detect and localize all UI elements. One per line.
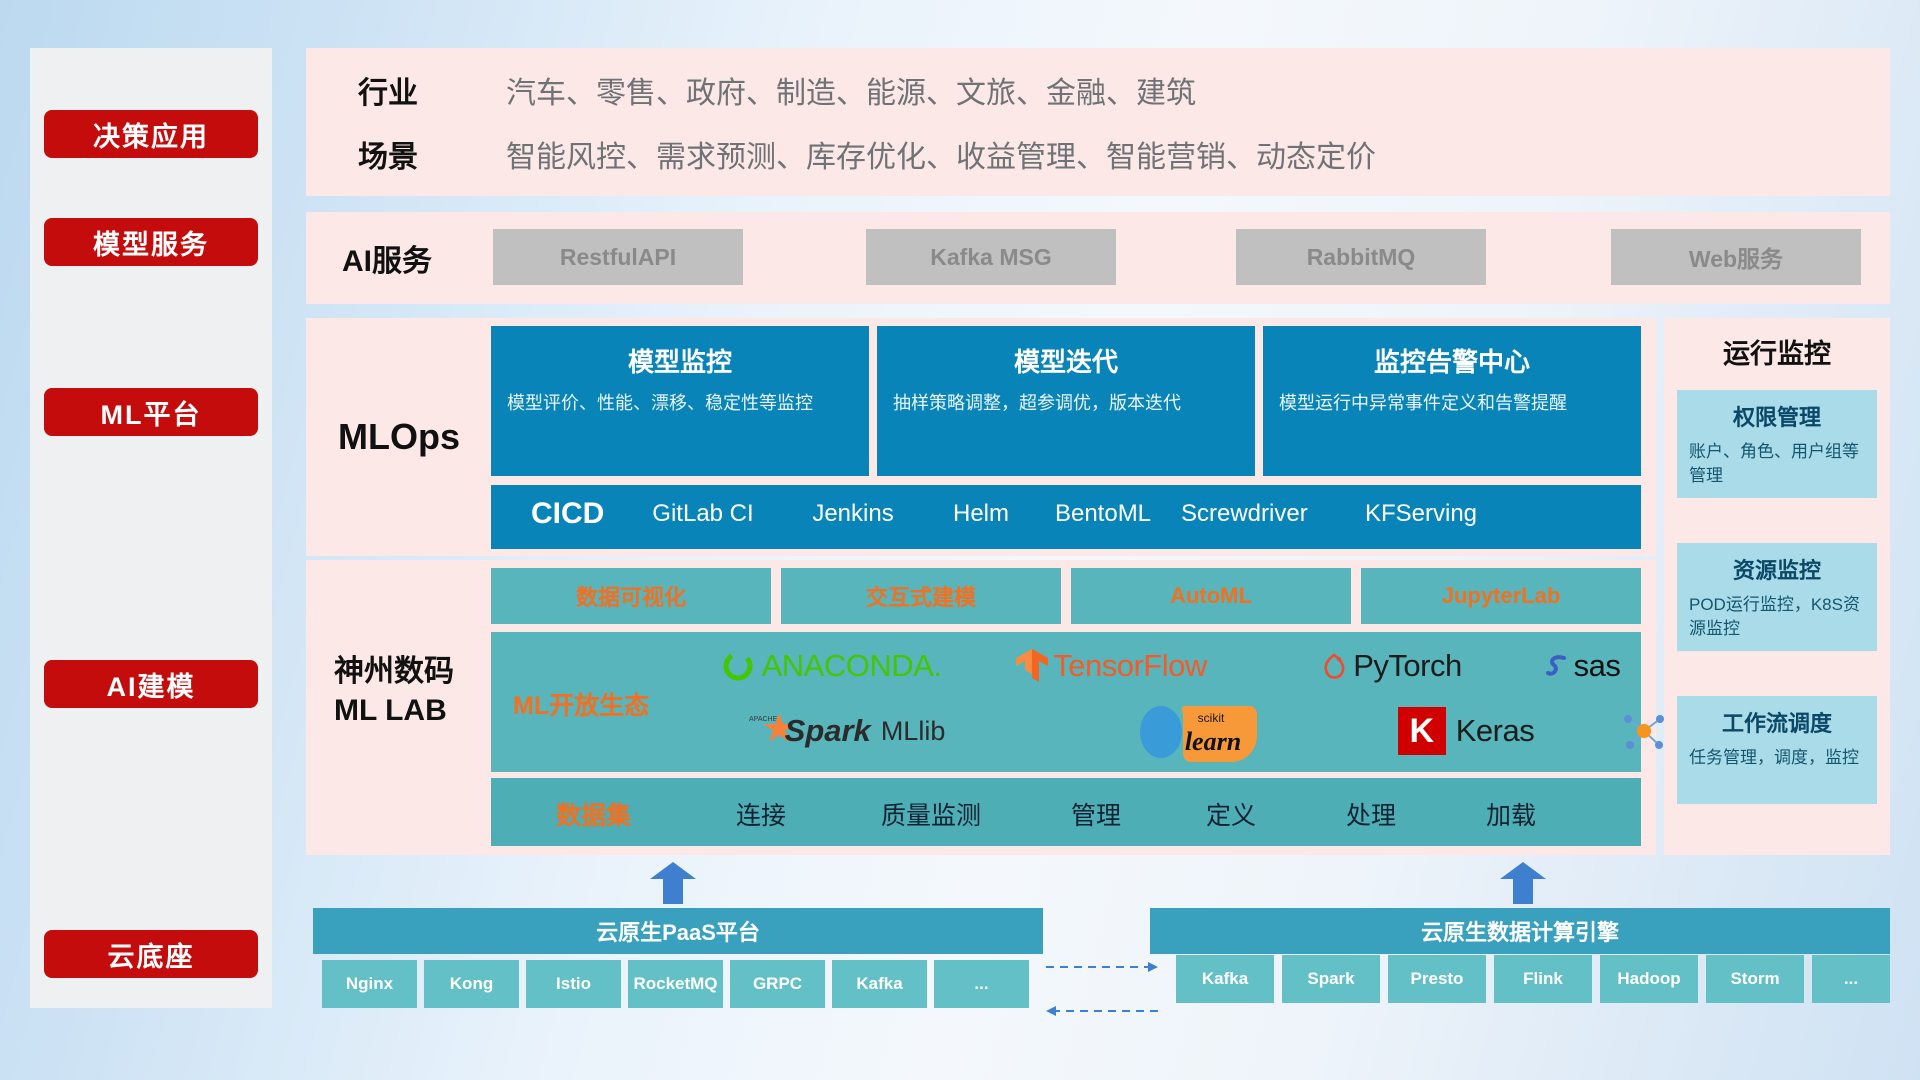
dataset-item-load[interactable]: 加载 bbox=[1486, 796, 1536, 832]
layer-chip-modelserv[interactable]: 模型服务 bbox=[44, 218, 258, 266]
card-title: 模型迭代 bbox=[877, 342, 1255, 379]
card-desc: 任务管理，调度，监控 bbox=[1689, 746, 1865, 770]
logo-sas: sas bbox=[1511, 636, 1651, 696]
logo-pytorch-text: PyTorch bbox=[1353, 648, 1461, 684]
logo-keras: K Keras bbox=[1336, 698, 1596, 764]
logo-mllib-text: MLlib bbox=[881, 716, 946, 747]
card-title: 资源监控 bbox=[1677, 553, 1877, 585]
apps-row-value-industry: 汽车、零售、政府、制造、能源、文旅、金融、建筑 bbox=[506, 62, 1196, 118]
card-desc: 模型评价、性能、漂移、稳定性等监控 bbox=[507, 391, 853, 415]
chip-nginx[interactable]: Nginx bbox=[322, 960, 417, 1008]
arrow-up-paas bbox=[650, 862, 696, 904]
ml-lab-label: 神州数码 ML LAB bbox=[334, 652, 454, 730]
dataset-item-connect[interactable]: 连接 bbox=[736, 796, 786, 832]
chip-kafka-left[interactable]: Kafka bbox=[832, 960, 927, 1008]
logo-spark-text: Spark bbox=[785, 713, 871, 749]
dashed-connectors bbox=[1040, 955, 1170, 1025]
layer-chip-decision[interactable]: 决策应用 bbox=[44, 110, 258, 158]
logo-pytorch: PyTorch bbox=[1266, 636, 1516, 696]
mllab-tab-automl[interactable]: AutoML bbox=[1071, 568, 1351, 624]
ai-service-band: AI服务 RestfulAPI Kafka MSG RabbitMQ Web服务 bbox=[306, 212, 1890, 304]
mlops-card-model-iteration[interactable]: 模型迭代 抽样策略调整，超参调优，版本迭代 bbox=[877, 326, 1255, 476]
ai-service-item-restfulapi[interactable]: RestfulAPI bbox=[493, 229, 743, 285]
apps-row-label-scenario: 场景 bbox=[358, 126, 418, 182]
card-desc: 账户、角色、用户组等管理 bbox=[1689, 440, 1865, 488]
cicd-label: CICD bbox=[531, 497, 604, 531]
apps-row-value-scenario: 智能风控、需求预测、库存优化、收益管理、智能营销、动态定价 bbox=[506, 126, 1376, 182]
ml-lab-band: 神州数码 ML LAB 数据可视化 交互式建模 AutoML JupyterLa… bbox=[306, 560, 1656, 855]
chip-grpc[interactable]: GRPC bbox=[730, 960, 825, 1008]
cicd-strip: CICD GitLab CI Jenkins Helm BentoML Scre… bbox=[491, 485, 1641, 549]
dataset-item-process[interactable]: 处理 bbox=[1346, 796, 1396, 832]
svg-text:scikit: scikit bbox=[1198, 711, 1225, 725]
monitoring-card-workflow[interactable]: 工作流调度 任务管理，调度，监控 bbox=[1677, 696, 1877, 804]
monitoring-card-resources[interactable]: 资源监控 POD运行监控，K8S资源监控 bbox=[1677, 543, 1877, 651]
anaconda-icon bbox=[721, 649, 755, 683]
chip-more-left[interactable]: ... bbox=[934, 960, 1029, 1008]
logo-anaconda: ANACONDA. bbox=[701, 636, 961, 696]
mlops-label: MLOps bbox=[338, 318, 460, 556]
ecosystem-label: ML开放生态 bbox=[513, 686, 649, 722]
card-title: 模型监控 bbox=[491, 342, 869, 379]
cicd-item-bentoml[interactable]: BentoML bbox=[1043, 499, 1163, 529]
ai-service-item-webservice[interactable]: Web服务 bbox=[1611, 229, 1861, 285]
ai-service-item-kafka[interactable]: Kafka MSG bbox=[866, 229, 1116, 285]
logo-tensorflow-text: TensorFlow bbox=[1053, 648, 1207, 684]
cicd-item-screwdriver[interactable]: Screwdriver bbox=[1181, 499, 1301, 529]
layer-chip-mlplatform[interactable]: ML平台 bbox=[44, 388, 258, 436]
mllab-tab-visualization[interactable]: 数据可视化 bbox=[491, 568, 771, 624]
monitoring-column: 运行监控 权限管理 账户、角色、用户组等管理 资源监控 POD运行监控，K8S资… bbox=[1664, 318, 1890, 855]
mlops-card-alert-center[interactable]: 监控告警中心 模型运行中异常事件定义和告警提醒 bbox=[1263, 326, 1641, 476]
logo-keras-text: Keras bbox=[1456, 713, 1534, 749]
pytorch-icon bbox=[1320, 649, 1348, 683]
layer-chip-cloudbase[interactable]: 云底座 bbox=[44, 930, 258, 978]
chip-more-right[interactable]: ... bbox=[1812, 955, 1890, 1003]
logo-anaconda-text: ANACONDA. bbox=[762, 648, 942, 684]
svg-text:learn: learn bbox=[1185, 727, 1241, 756]
card-desc: 模型运行中异常事件定义和告警提醒 bbox=[1279, 391, 1625, 415]
cicd-item-gitlab[interactable]: GitLab CI bbox=[643, 499, 763, 529]
networkx-icon bbox=[1622, 709, 1666, 753]
sas-icon bbox=[1542, 651, 1572, 681]
cicd-item-kfserving[interactable]: KFServing bbox=[1361, 499, 1481, 529]
foundation-header-data-engine: 云原生数据计算引擎 bbox=[1150, 908, 1890, 954]
foundation-header-paas: 云原生PaaS平台 bbox=[313, 908, 1043, 954]
chip-presto[interactable]: Presto bbox=[1388, 955, 1486, 1003]
layer-rail: 决策应用 模型服务 ML平台 AI建模 云底座 bbox=[30, 48, 272, 1008]
chip-hadoop[interactable]: Hadoop bbox=[1600, 955, 1698, 1003]
apps-row-label-industry: 行业 bbox=[358, 62, 418, 118]
chip-storm[interactable]: Storm bbox=[1706, 955, 1804, 1003]
logo-tensorflow: TensorFlow bbox=[961, 636, 1261, 696]
monitoring-card-permissions[interactable]: 权限管理 账户、角色、用户组等管理 bbox=[1677, 390, 1877, 498]
chip-rocketmq[interactable]: RocketMQ bbox=[628, 960, 723, 1008]
applications-band: 行业 汽车、零售、政府、制造、能源、文旅、金融、建筑 场景 智能风控、需求预测、… bbox=[306, 48, 1890, 196]
dataset-item-manage[interactable]: 管理 bbox=[1071, 796, 1121, 832]
monitoring-title: 运行监控 bbox=[1664, 332, 1890, 371]
logo-scikit-learn: scikit learn bbox=[1046, 698, 1346, 764]
chip-kong[interactable]: Kong bbox=[424, 960, 519, 1008]
logo-spark-mllib: APACHE Spark MLlib bbox=[696, 698, 996, 764]
architecture-diagram: 决策应用 模型服务 ML平台 AI建模 云底座 行业 汽车、零售、政府、制造、能… bbox=[0, 0, 1920, 1080]
dataset-item-define[interactable]: 定义 bbox=[1206, 796, 1256, 832]
chip-istio[interactable]: Istio bbox=[526, 960, 621, 1008]
card-title: 工作流调度 bbox=[1677, 706, 1877, 738]
card-desc: POD运行监控，K8S资源监控 bbox=[1689, 593, 1865, 641]
ai-service-item-rabbitmq[interactable]: RabbitMQ bbox=[1236, 229, 1486, 285]
mllab-ecosystem: ML开放生态 ANACONDA. TensorFlow bbox=[491, 632, 1641, 772]
ai-service-label: AI服务 bbox=[342, 212, 432, 304]
tensorflow-icon bbox=[1015, 648, 1049, 684]
chip-kafka-right[interactable]: Kafka bbox=[1176, 955, 1274, 1003]
chip-flink[interactable]: Flink bbox=[1494, 955, 1592, 1003]
arrow-up-data-engine bbox=[1500, 862, 1546, 904]
card-title: 监控告警中心 bbox=[1263, 342, 1641, 379]
card-desc: 抽样策略调整，超参调优，版本迭代 bbox=[893, 391, 1239, 415]
scikit-learn-icon: scikit learn bbox=[1131, 700, 1261, 762]
cicd-item-helm[interactable]: Helm bbox=[921, 499, 1041, 529]
logo-sas-text: sas bbox=[1574, 648, 1621, 684]
mlops-card-model-monitor[interactable]: 模型监控 模型评价、性能、漂移、稳定性等监控 bbox=[491, 326, 869, 476]
chip-spark[interactable]: Spark bbox=[1282, 955, 1380, 1003]
card-title: 权限管理 bbox=[1677, 400, 1877, 432]
layer-chip-aimodeling[interactable]: AI建模 bbox=[44, 660, 258, 708]
ml-lab-label-cn: 神州数码 bbox=[334, 652, 454, 691]
mllab-tab-jupyterlab[interactable]: JupyterLab bbox=[1361, 568, 1641, 624]
mlops-band: MLOps 模型监控 模型评价、性能、漂移、稳定性等监控 模型迭代 抽样策略调整… bbox=[306, 318, 1656, 556]
cicd-item-jenkins[interactable]: Jenkins bbox=[793, 499, 913, 529]
dataset-label: 数据集 bbox=[556, 796, 631, 832]
dataset-item-quality[interactable]: 质量监测 bbox=[881, 796, 981, 832]
keras-icon: K bbox=[1398, 707, 1446, 755]
svg-text:APACHE: APACHE bbox=[749, 716, 778, 723]
ml-lab-label-en: ML LAB bbox=[334, 691, 454, 730]
mllab-tab-interactive-modeling[interactable]: 交互式建模 bbox=[781, 568, 1061, 624]
dataset-strip: 数据集 连接 质量监测 管理 定义 处理 加载 bbox=[491, 778, 1641, 846]
